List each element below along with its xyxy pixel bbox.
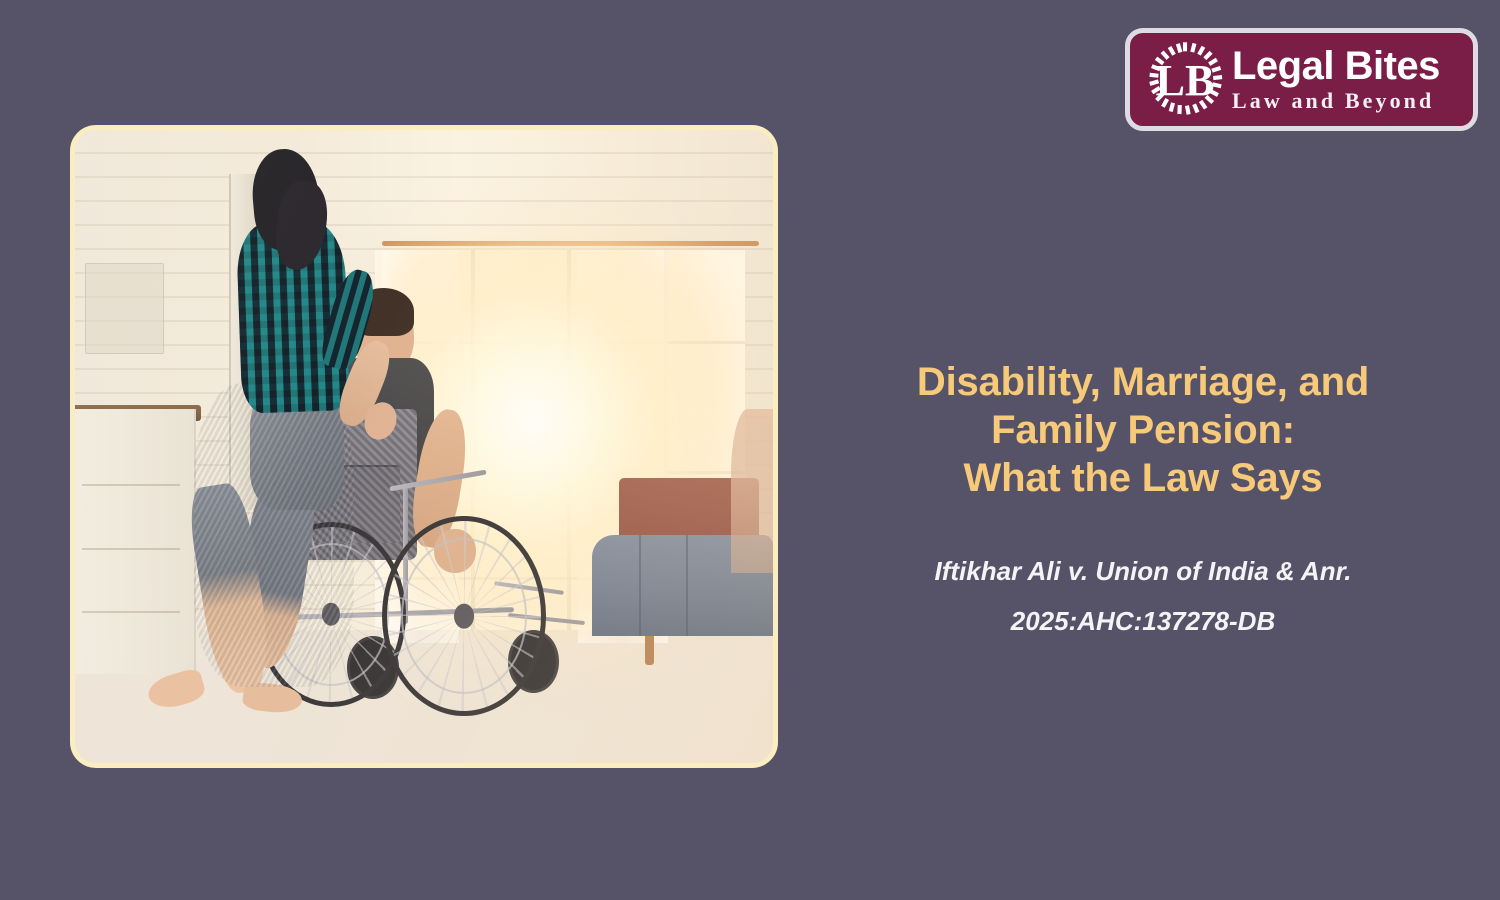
page-title: Disability, Marriage, and Family Pension… (838, 358, 1448, 502)
brand-tagline: Law and Beyond (1232, 88, 1440, 114)
brand-badge[interactable]: LB Legal Bites Law and Beyond (1125, 28, 1478, 131)
case-citation: Iftikhar Ali v. Union of India & Anr. 20… (838, 546, 1448, 646)
svg-text:LB: LB (1155, 55, 1214, 104)
photo-wall-panel (85, 263, 164, 354)
brand-wordmark: Legal Bites Law and Beyond (1232, 45, 1440, 114)
neutral-citation: 2025:AHC:137278-DB (838, 596, 1448, 646)
headline-line-2: Family Pension: (838, 406, 1448, 454)
photo-person-right (731, 409, 773, 574)
hero-photo-frame (70, 125, 778, 768)
hero-photo (75, 130, 773, 763)
case-name: Iftikhar Ali v. Union of India & Anr. (838, 546, 1448, 596)
headline-line-3: What the Law Says (838, 454, 1448, 502)
poster-canvas: LB Legal Bites Law and Beyond (0, 0, 1500, 900)
text-column: Disability, Marriage, and Family Pension… (838, 358, 1448, 646)
brand-name: Legal Bites (1232, 45, 1440, 87)
headline-line-1: Disability, Marriage, and (838, 358, 1448, 406)
lb-sunburst-monogram-icon: LB (1144, 39, 1226, 121)
photo-wheelchair-wheel (382, 516, 546, 716)
